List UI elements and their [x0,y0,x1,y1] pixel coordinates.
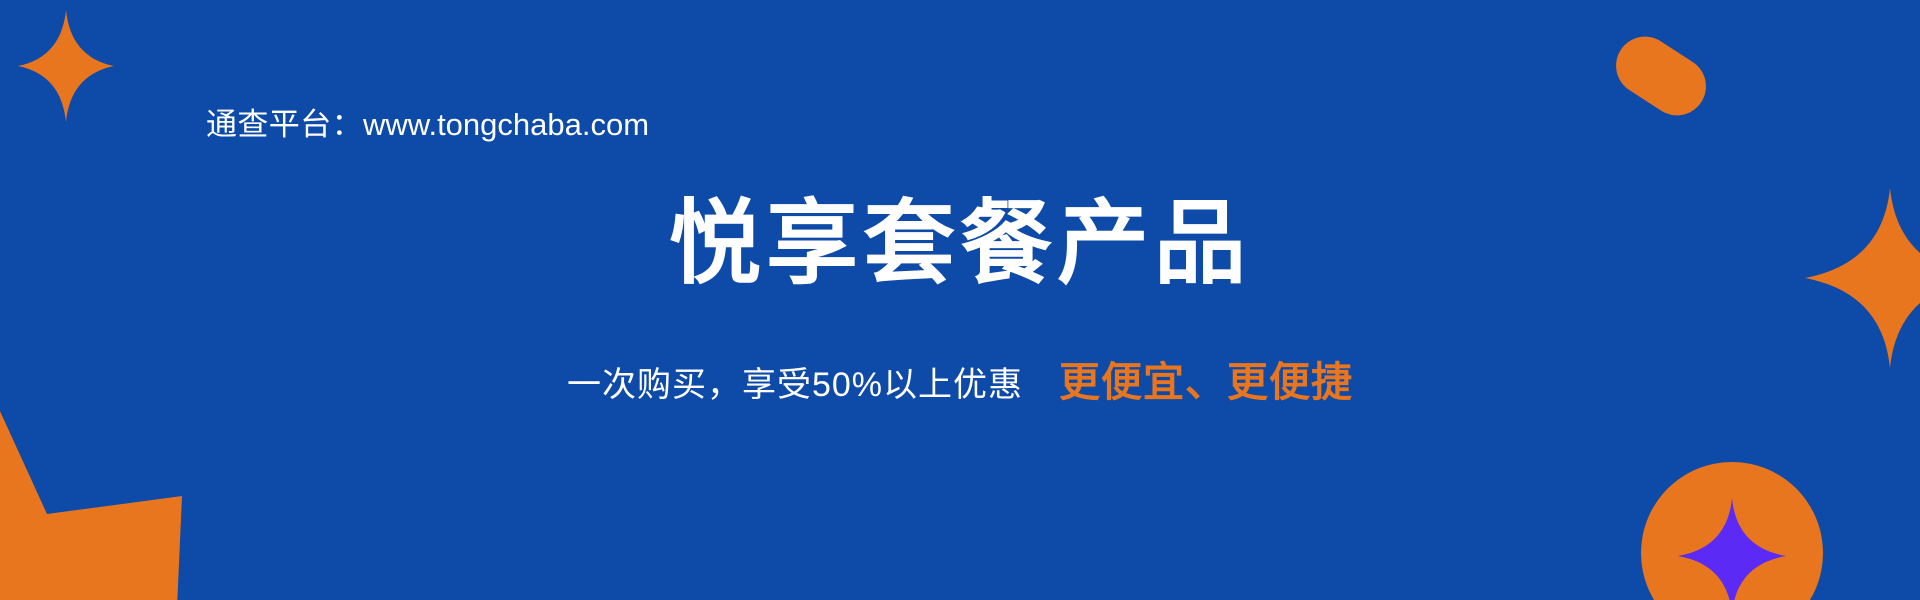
circle-bottom-right-shape [1641,462,1823,600]
subheadline-row: 一次购买，享受50%以上优惠 更便宜、更便捷 [0,362,1920,403]
subheadline-benefit: 一次购买，享受50%以上优惠 [567,368,1023,402]
platform-url: www.tongchaba.com [363,107,649,142]
platform-label: 通查平台： [206,107,363,142]
page-title: 悦享套餐产品 [0,196,1920,293]
platform-url-line: 通查平台：www.tongchaba.com [206,109,649,140]
promo-banner: 通查平台：www.tongchaba.com 悦享套餐产品 一次购买，享受50%… [0,0,1920,600]
sparkle-top-left-icon [18,10,114,122]
burst-bottom-left-shape [0,398,312,600]
sparkle-bottom-right-icon [1678,498,1786,600]
pill-top-right-shape [1605,26,1717,127]
subheadline-highlight: 更便宜、更便捷 [1059,362,1353,403]
